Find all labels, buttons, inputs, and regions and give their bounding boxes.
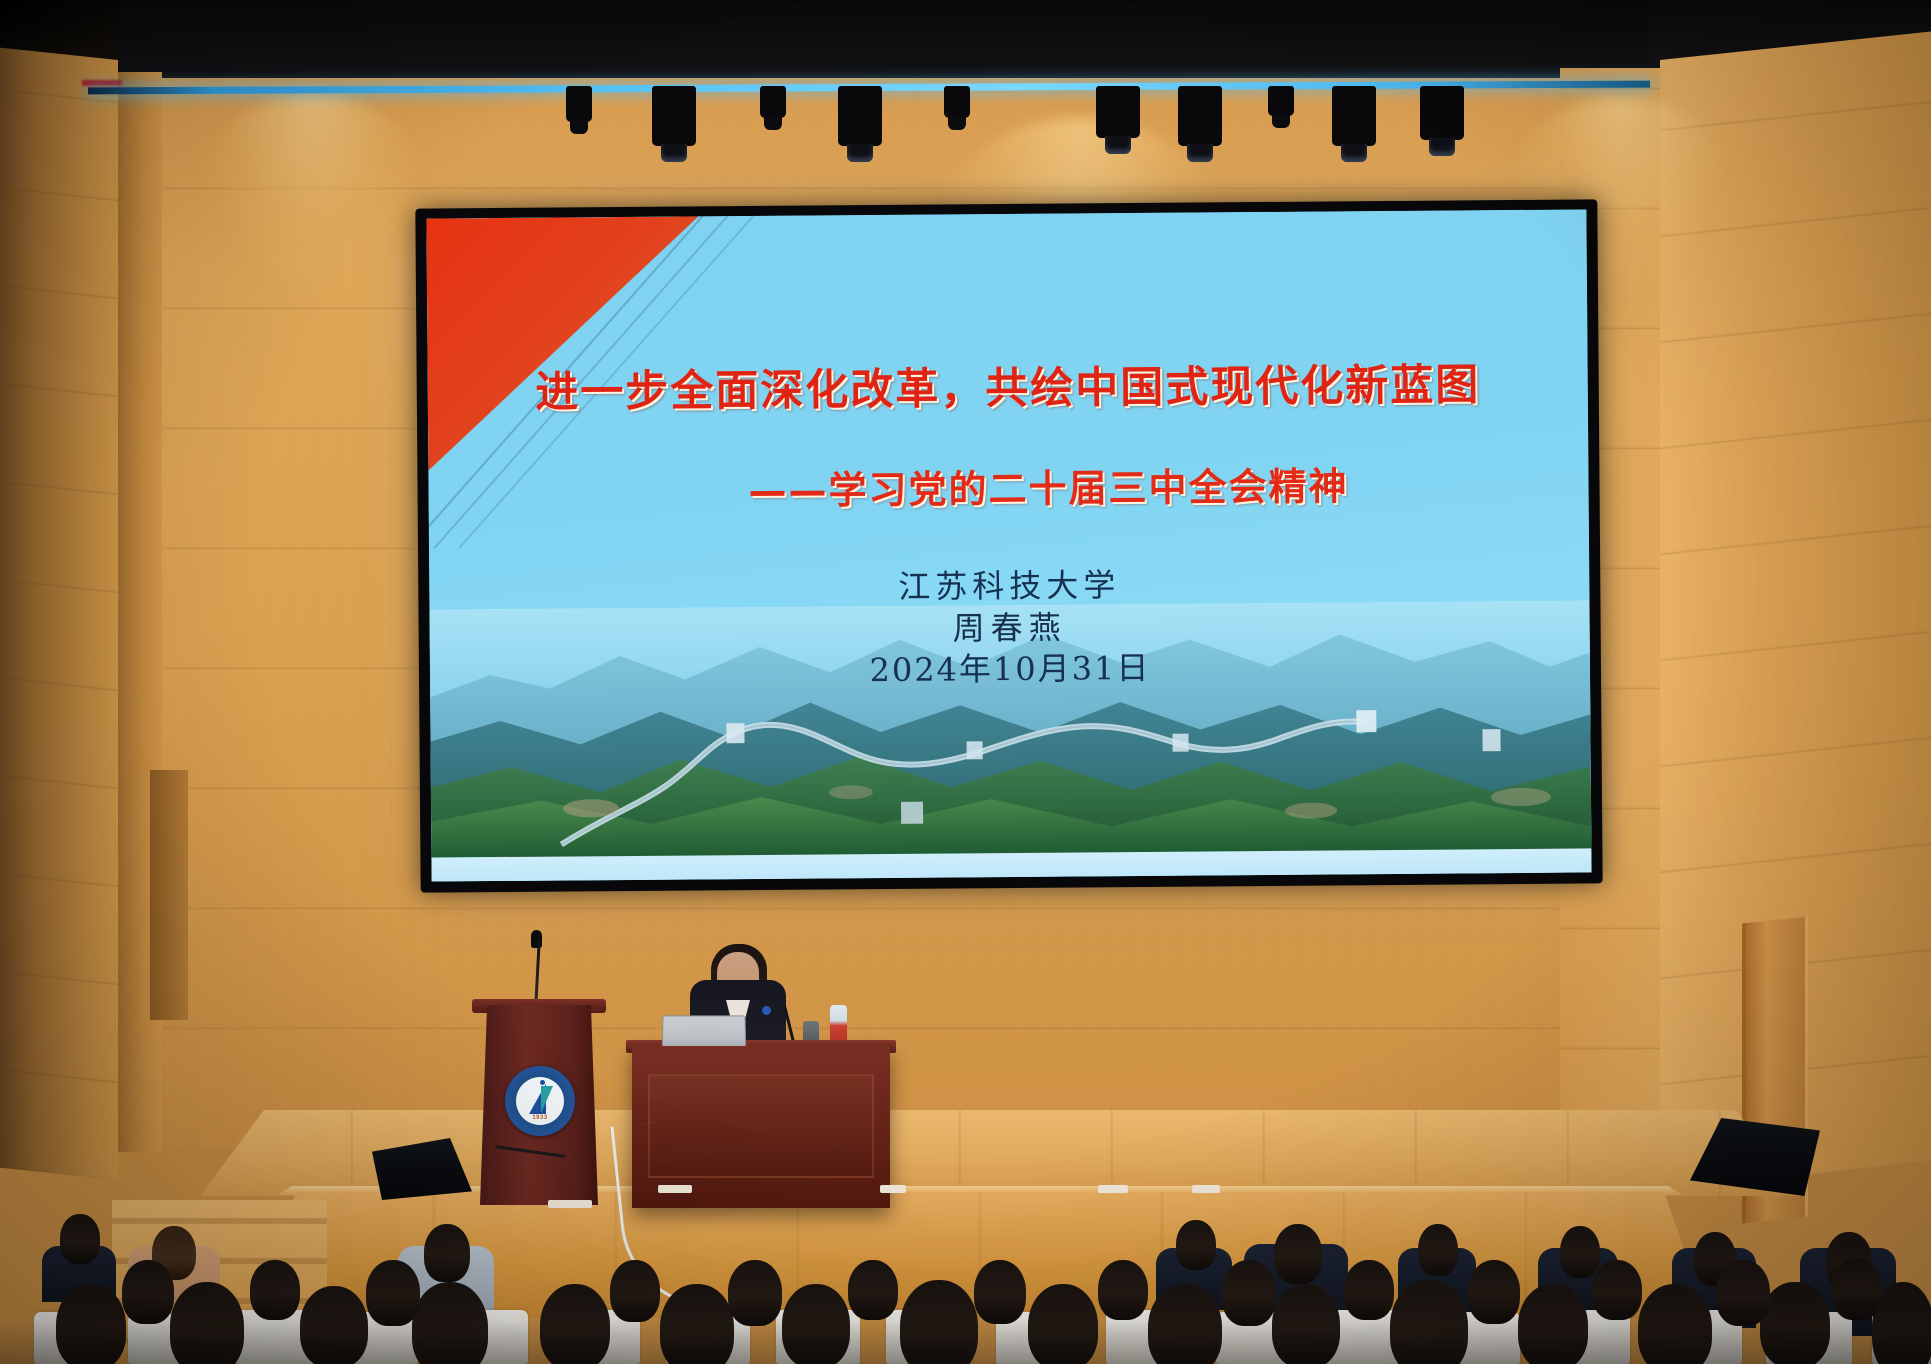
audience-head [540,1284,610,1364]
floor-tape-marker [880,1185,906,1193]
audience-head [1716,1260,1770,1326]
audience-head [1468,1260,1520,1324]
audience-head [424,1224,470,1282]
spotlight [760,86,786,118]
audience-head [782,1284,850,1364]
audience-head [1560,1226,1600,1278]
audience-head [122,1260,174,1324]
left-wall-alcove [150,770,188,1020]
spotlight [1178,86,1222,146]
emblem-sail-secondary [541,1086,553,1113]
audience-head [1274,1224,1322,1284]
floor-tape-marker [658,1185,692,1193]
audience-head [170,1282,244,1364]
audience-head [60,1214,100,1264]
audience-head [660,1284,734,1364]
speaker-lapel-badge [762,1006,771,1015]
audience-seating [0,1212,1931,1364]
screen-surface: 进一步全面深化改革，共绘中国式现代化新蓝图 ——学习党的二十届三中全会精神 江苏… [426,209,1591,881]
audience-head [1638,1284,1712,1364]
floor-cable-run [548,1200,592,1208]
audience-head [1148,1284,1222,1364]
audience-head [610,1260,660,1322]
audience-head [1176,1220,1216,1270]
slide-red-corner-decoration [426,216,700,470]
audience-head [1760,1282,1830,1364]
emblem-inner-disc: 1933 [516,1077,564,1125]
audience-head [366,1260,420,1326]
emblem-year-text: 1933 [516,1115,564,1121]
audience-head [1518,1284,1588,1364]
spotlight [838,86,882,146]
spotlight [1420,86,1464,140]
spotlight [1268,86,1294,116]
floor-tape-marker [1098,1185,1128,1193]
audience-head [1832,1258,1882,1320]
slide-subtitle: ——学习党的二十届三中全会精神 [428,453,1588,517]
audience-head [56,1284,126,1364]
spotlight [944,86,970,118]
audience-head [250,1260,300,1320]
slide-main-title: 进一步全面深化改革，共绘中国式现代化新蓝图 [428,349,1588,420]
floor-tape-marker [1192,1185,1220,1193]
spotlight [1332,86,1376,146]
audience-head [1098,1260,1148,1320]
audience-head [900,1280,978,1364]
university-emblem: 1933 [505,1066,575,1136]
truss-red-marker-light [82,80,122,86]
audience-head [1344,1260,1394,1320]
audience-head [728,1260,782,1326]
slide-byline: 江苏科技大学 周春燕 2024年10月31日 [429,561,1590,695]
spotlight [652,86,696,146]
audience-head [1418,1224,1458,1276]
spotlight [566,86,592,122]
led-display-screen: 进一步全面深化改革，共绘中国式现代化新蓝图 ——学习党的二十届三中全会精神 江苏… [415,199,1602,892]
audience-head [1222,1260,1276,1326]
audience-head [974,1260,1026,1324]
audience-head [1592,1260,1642,1320]
audience-head [412,1282,488,1364]
ceiling-soffit [88,0,1648,78]
audience-head [848,1260,898,1320]
audience-head [1028,1284,1098,1364]
audience-head [300,1286,368,1364]
left-wall [0,48,118,1180]
audience-head [1272,1284,1340,1364]
audience-head [1390,1280,1468,1364]
lecture-hall-photo: 进一步全面深化改革，共绘中国式现代化新蓝图 ——学习党的二十届三中全会精神 江苏… [0,0,1931,1364]
presentation-slide: 进一步全面深化改革，共绘中国式现代化新蓝图 ——学习党的二十届三中全会精神 江苏… [426,209,1591,881]
spotlight [1096,86,1140,138]
emblem-mast-dot [540,1080,545,1085]
